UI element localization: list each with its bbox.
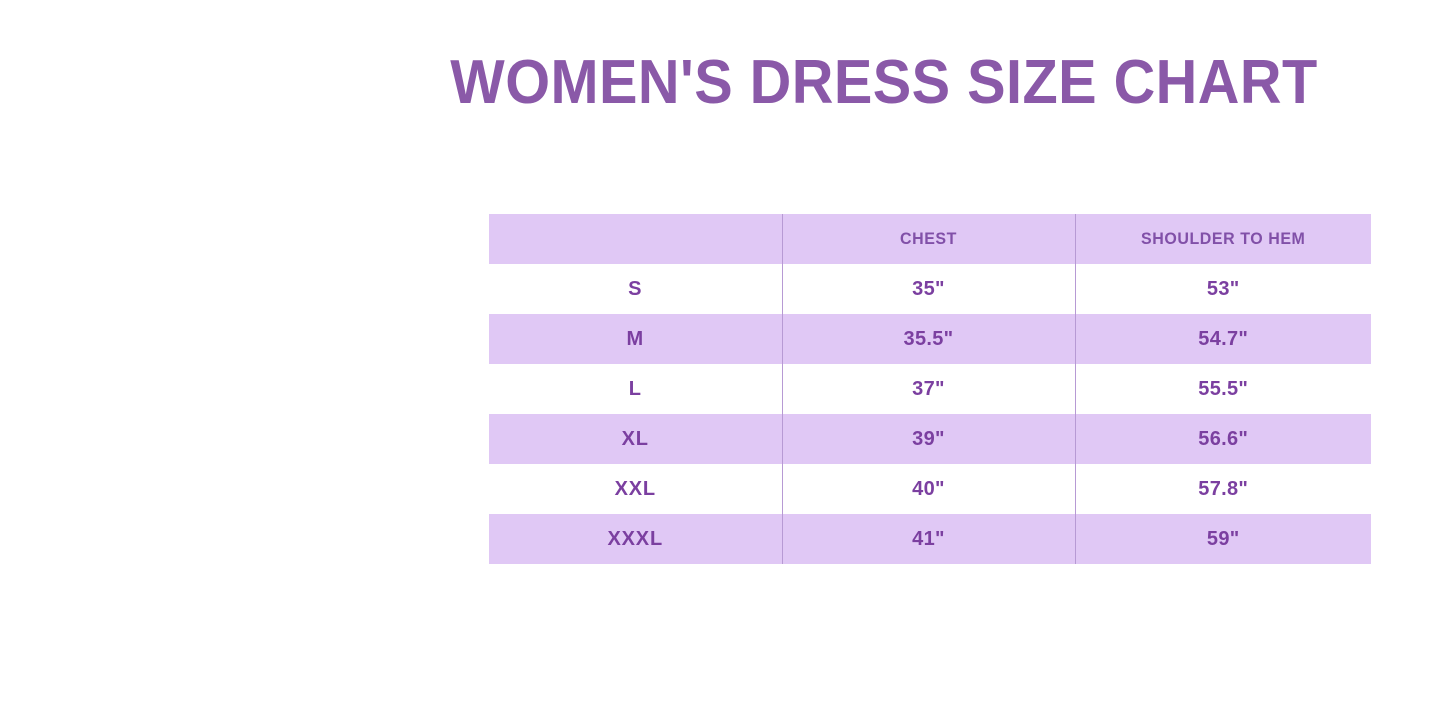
cell-size: XXXL (489, 514, 782, 564)
cell-size: XL (489, 414, 782, 464)
table-row: XL 39" 56.6" (489, 414, 1371, 464)
table-row: S 35" 53" (489, 264, 1371, 314)
cell-chest: 40" (782, 464, 1075, 514)
cell-shoulder-to-hem: 55.5" (1075, 364, 1371, 414)
page-title: WOMEN'S DRESS SIZE CHART (62, 52, 1445, 114)
table-header: CHEST SHOULDER TO HEM (489, 214, 1371, 264)
table-row: XXL 40" 57.8" (489, 464, 1371, 514)
cell-size: M (489, 314, 782, 364)
cell-chest: 41" (782, 514, 1075, 564)
table-body: S 35" 53" M 35.5" 54.7" L 37" 55.5" XL 3… (489, 264, 1371, 564)
cell-size: XXL (489, 464, 782, 514)
header-cell-chest: CHEST (791, 214, 1066, 264)
table-row: M 35.5" 54.7" (489, 314, 1371, 364)
cell-shoulder-to-hem: 56.6" (1075, 414, 1371, 464)
size-chart-table: CHEST SHOULDER TO HEM S 35" 53" M 35.5" … (489, 214, 1371, 564)
header-cell-size (498, 214, 773, 264)
cell-chest: 37" (782, 364, 1075, 414)
table-row: L 37" 55.5" (489, 364, 1371, 414)
header-cell-shoulder-to-hem: SHOULDER TO HEM (1084, 214, 1362, 264)
cell-chest: 35.5" (782, 314, 1075, 364)
cell-shoulder-to-hem: 54.7" (1075, 314, 1371, 364)
cell-chest: 39" (782, 414, 1075, 464)
cell-shoulder-to-hem: 53" (1075, 264, 1371, 314)
cell-chest: 35" (782, 264, 1075, 314)
cell-size: L (489, 364, 782, 414)
cell-size: S (489, 264, 782, 314)
table-row: XXXL 41" 59" (489, 514, 1371, 564)
cell-shoulder-to-hem: 59" (1075, 514, 1371, 564)
cell-shoulder-to-hem: 57.8" (1075, 464, 1371, 514)
header-row: CHEST SHOULDER TO HEM (489, 214, 1371, 264)
size-chart-page: WOMEN'S DRESS SIZE CHART CHEST SHOULDER … (0, 0, 1445, 723)
